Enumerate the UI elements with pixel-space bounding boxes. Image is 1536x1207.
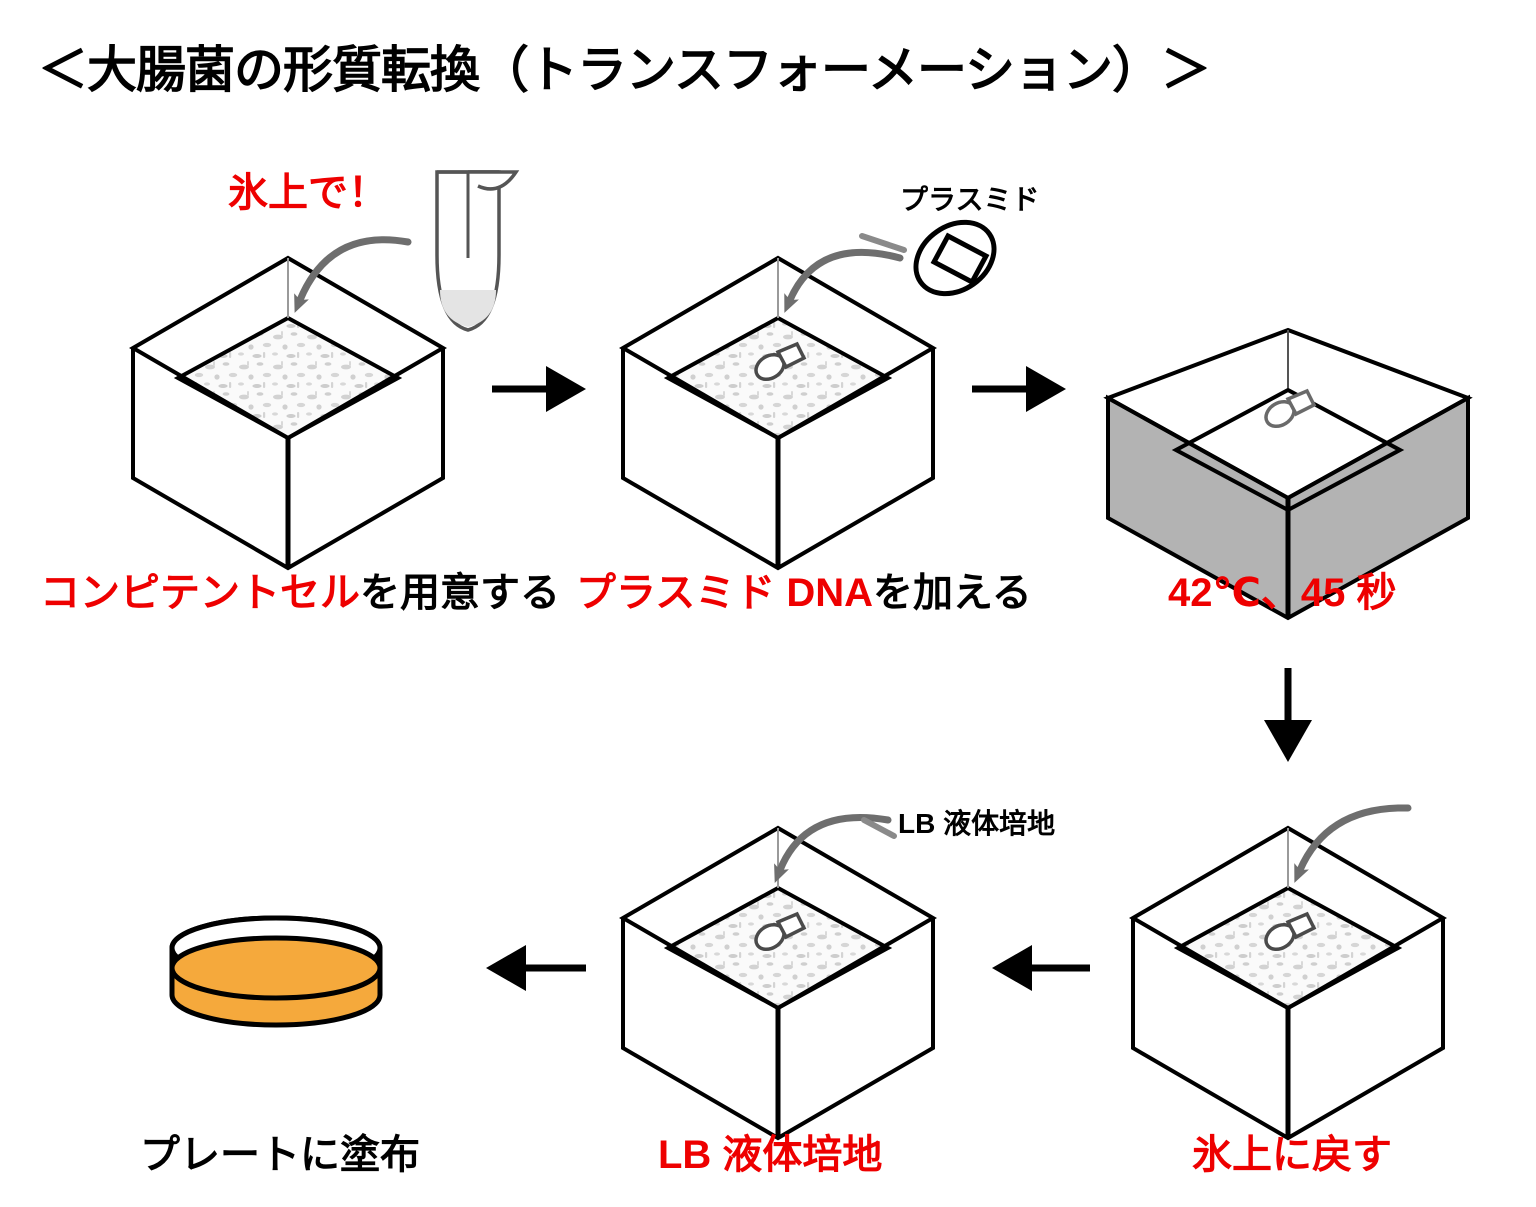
arrow-into-ice-step4 — [1300, 808, 1408, 870]
step-label-3-red: 42℃、45 秒 — [1168, 571, 1397, 615]
step-label-6-black: プレートに塗布 — [140, 1133, 420, 1177]
step-label-4: 氷上に戻す — [1192, 1134, 1392, 1176]
tube-in-ice-step2 — [751, 344, 804, 384]
step-label-2-red: プラスミド DNA — [576, 571, 873, 615]
tube-in-ice-step5 — [751, 914, 804, 954]
step-label-4-red: 氷上に戻す — [1192, 1133, 1392, 1177]
icon-ice-bucket-step2 — [623, 258, 933, 568]
step-label-1: コンピテントセルを用意する — [40, 572, 560, 614]
diagram-canvas: ＜大腸菌の形質転換（トランスフォーメーション）＞ — [0, 0, 1536, 1207]
arrow-plasmid-into-ice-step2 — [790, 252, 900, 300]
tube-in-ice-step4 — [1261, 914, 1314, 954]
leader-line-plasmid — [862, 236, 904, 250]
annotation-lb-medium: LB 液体培地 — [898, 802, 1055, 842]
arrow-step5-to-step6 — [486, 945, 586, 991]
icon-ice-bucket-step5 — [623, 828, 933, 1138]
step-label-1-black: を用意する — [360, 571, 560, 615]
arrow-step3-to-step4 — [1264, 668, 1312, 762]
icon-agar-plate — [172, 918, 380, 1025]
leader-line-lb — [864, 820, 894, 836]
arrow-step1-to-step2 — [492, 366, 586, 412]
icon-ice-bucket-step1 — [133, 258, 443, 568]
annotation-on-ice: 氷上で！ — [228, 160, 388, 218]
icon-microcentrifuge-tube — [437, 172, 516, 330]
step-label-5-red: LB 液体培地 — [658, 1133, 882, 1177]
step-label-3: 42℃、45 秒 — [1168, 572, 1397, 614]
step-label-6: プレートに塗布 — [140, 1134, 420, 1176]
icon-plasmid — [902, 208, 1008, 309]
page-title: ＜大腸菌の形質転換（トランスフォーメーション）＞ — [38, 30, 1210, 102]
arrow-step4-to-step5 — [992, 945, 1090, 991]
step-label-2: プラスミド DNAを加える — [576, 572, 1032, 614]
arrow-lb-into-ice-step5 — [780, 817, 888, 870]
step-label-2-black: を加える — [873, 571, 1032, 615]
step-label-1-red: コンピテントセル — [40, 571, 360, 615]
arrow-step2-to-step3 — [972, 366, 1066, 412]
icon-ice-bucket-step4 — [1133, 828, 1443, 1138]
step-label-5: LB 液体培地 — [658, 1134, 882, 1176]
tube-floating-step3 — [1261, 391, 1314, 431]
annotation-plasmid: プラスミド — [900, 178, 1039, 218]
arrow-tube-into-ice-step1 — [300, 240, 408, 300]
